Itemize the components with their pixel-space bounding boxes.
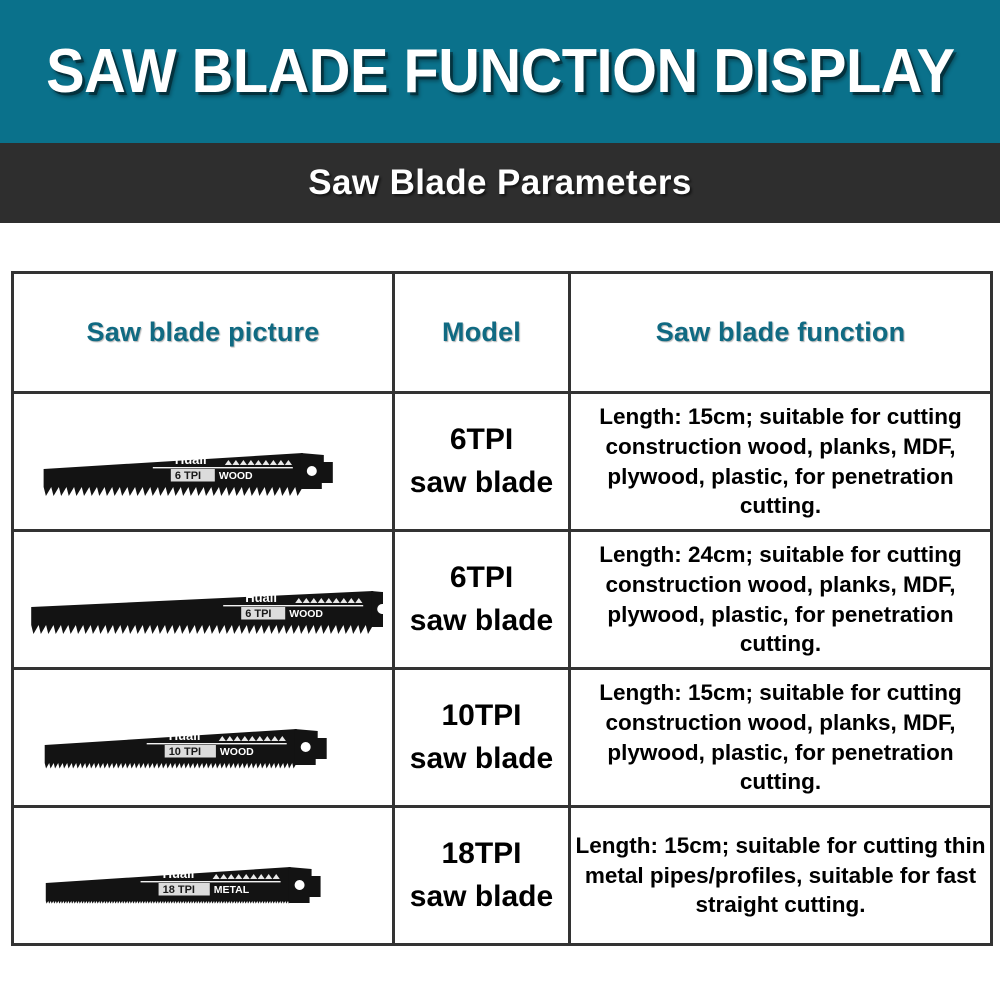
banner-header: SAW BLADE FUNCTION DISPLAY — [0, 0, 1000, 143]
svg-text:10 TPI: 10 TPI — [169, 746, 201, 758]
svg-text:Huali: Huali — [169, 728, 201, 743]
model-tpi: 10TPI — [395, 695, 568, 738]
function-description: Length: 24cm; suitable for cutting const… — [570, 531, 992, 669]
subtitle-text: Saw Blade Parameters — [308, 163, 691, 203]
spec-table-container: Saw blade picture Model Saw blade functi… — [11, 271, 990, 928]
blade-image-cell: Huali18 TPIMETAL — [13, 807, 394, 945]
model-cell: 6TPI saw blade — [394, 531, 570, 669]
table-header-row: Saw blade picture Model Saw blade functi… — [13, 273, 992, 393]
model-cell: 10TPI saw blade — [394, 669, 570, 807]
svg-text:6 TPI: 6 TPI — [175, 470, 201, 482]
model-cell: 6TPI saw blade — [394, 393, 570, 531]
svg-text:METAL: METAL — [214, 884, 250, 896]
blade-image-cell: Huali6 TPIWOOD — [13, 393, 394, 531]
svg-text:WOOD: WOOD — [220, 746, 254, 758]
model-tpi: 6TPI — [395, 419, 568, 462]
svg-text:6 TPI: 6 TPI — [245, 608, 271, 620]
table-row: Huali18 TPIMETAL 18TPI saw blade Length:… — [13, 807, 992, 945]
svg-text:WOOD: WOOD — [289, 608, 323, 620]
model-cell: 18TPI saw blade — [394, 807, 570, 945]
blade-illustration-1: Huali6 TPIWOOD — [14, 532, 392, 667]
column-header-model: Model — [394, 273, 570, 393]
column-header-function: Saw blade function — [570, 273, 992, 393]
spec-table: Saw blade picture Model Saw blade functi… — [11, 271, 993, 946]
blade-illustration-2: Huali10 TPIWOOD — [14, 670, 392, 805]
subtitle-bar: Saw Blade Parameters — [0, 143, 1000, 223]
table-row: Huali6 TPIWOOD 6TPI saw blade Length: 15… — [13, 393, 992, 531]
blade-illustration-3: Huali18 TPIMETAL — [14, 808, 392, 943]
svg-text:Huali: Huali — [175, 452, 207, 467]
model-name: saw blade — [395, 600, 568, 643]
model-tpi: 18TPI — [395, 833, 568, 876]
blade-image-cell: Huali6 TPIWOOD — [13, 531, 394, 669]
column-header-picture: Saw blade picture — [13, 273, 394, 393]
function-description: Length: 15cm; suitable for cutting thin … — [570, 807, 992, 945]
blade-illustration-0: Huali6 TPIWOOD — [14, 394, 392, 529]
infographic-page: SAW BLADE FUNCTION DISPLAY Saw Blade Par… — [0, 0, 1000, 1000]
banner-title: SAW BLADE FUNCTION DISPLAY — [46, 41, 954, 103]
model-name: saw blade — [395, 876, 568, 919]
model-name: saw blade — [395, 462, 568, 505]
model-name: saw blade — [395, 738, 568, 781]
svg-text:18 TPI: 18 TPI — [163, 884, 195, 896]
svg-text:Huali: Huali — [163, 866, 195, 881]
function-description: Length: 15cm; suitable for cutting const… — [570, 393, 992, 531]
function-description: Length: 15cm; suitable for cutting const… — [570, 669, 992, 807]
svg-text:WOOD: WOOD — [219, 470, 253, 482]
table-row: Huali10 TPIWOOD 10TPI saw blade Length: … — [13, 669, 992, 807]
model-tpi: 6TPI — [395, 557, 568, 600]
table-row: Huali6 TPIWOOD 6TPI saw blade Length: 24… — [13, 531, 992, 669]
blade-image-cell: Huali10 TPIWOOD — [13, 669, 394, 807]
svg-text:Huali: Huali — [245, 590, 277, 605]
